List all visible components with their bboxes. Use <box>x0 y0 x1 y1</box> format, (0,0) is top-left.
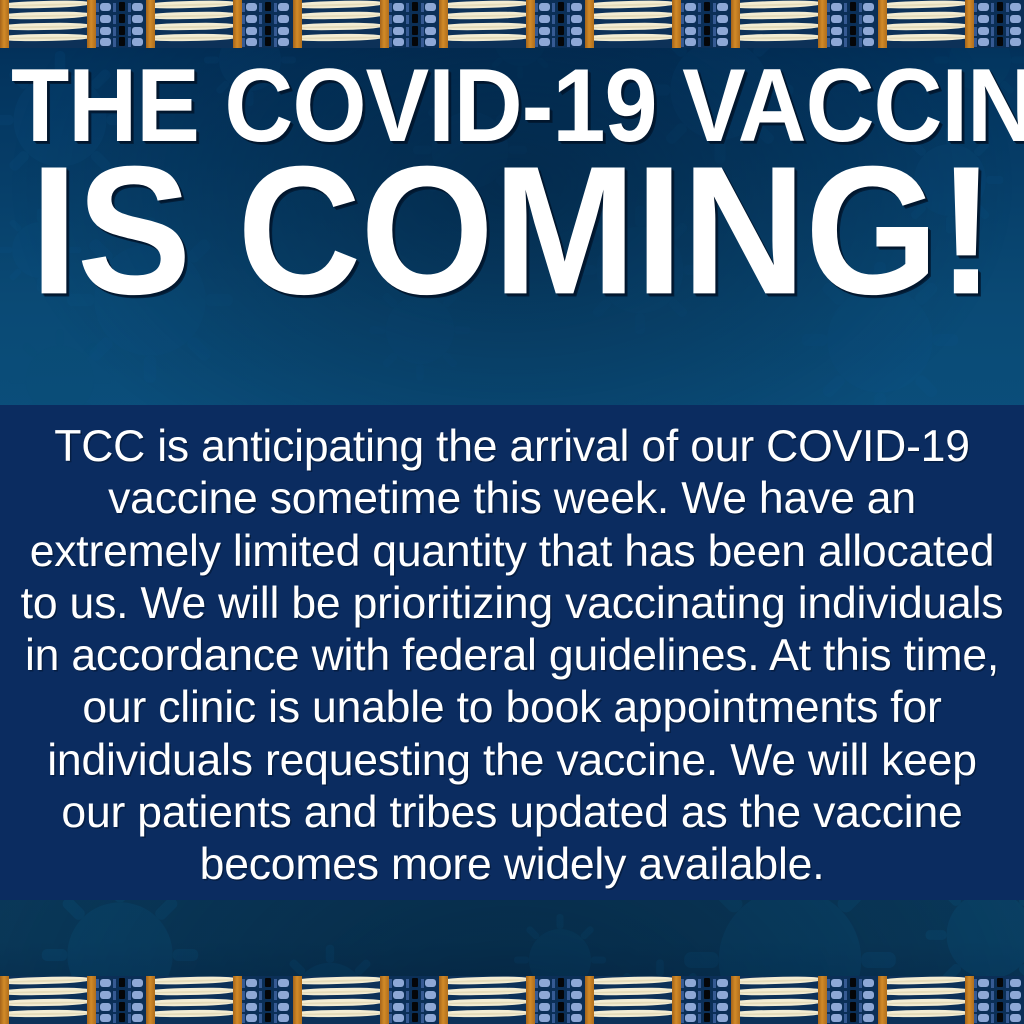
bead-column <box>1006 976 1024 1024</box>
bottom-beadwork-border <box>0 976 1024 1024</box>
gold-post <box>878 976 887 1024</box>
bead-column <box>713 0 731 48</box>
weave-unit <box>146 976 292 1024</box>
gold-post <box>233 976 242 1024</box>
weave-unit <box>439 976 585 1024</box>
bead-column <box>1006 0 1024 48</box>
bead-column <box>128 976 146 1024</box>
headline-block: THE COVID-19 VACCINE IS COMING! <box>0 62 1024 304</box>
bead-column <box>421 976 439 1024</box>
dash-column <box>118 0 126 48</box>
bead-column <box>567 0 585 48</box>
body-text-panel: TCC is anticipating the arrival of our C… <box>0 405 1024 900</box>
gold-post <box>293 0 302 48</box>
dash-column <box>703 976 711 1024</box>
dash-column <box>849 0 857 48</box>
bead-column <box>974 0 994 48</box>
gold-post <box>818 976 827 1024</box>
gold-post <box>585 0 594 48</box>
gold-post <box>672 0 681 48</box>
bead-column <box>681 976 701 1024</box>
bead-column <box>859 976 877 1024</box>
ivory-bands <box>878 976 966 1024</box>
bead-column <box>827 976 847 1024</box>
gold-post <box>87 0 96 48</box>
announcement-body-text: TCC is anticipating the arrival of our C… <box>14 421 1010 892</box>
ivory-bands <box>731 0 819 48</box>
weave-unit <box>731 976 877 1024</box>
bead-column <box>713 976 731 1024</box>
ivory-bands <box>0 0 88 48</box>
dash-column <box>411 976 419 1024</box>
weave-unit <box>585 976 731 1024</box>
bead-column <box>535 976 555 1024</box>
dash-column <box>703 0 711 48</box>
dash-column <box>557 976 565 1024</box>
weave-pattern-bottom <box>0 976 1024 1024</box>
covid-vaccine-announcement-poster: THE COVID-19 VACCINE IS COMING! TCC is a… <box>0 0 1024 1024</box>
weave-unit <box>878 0 1024 48</box>
dash-column <box>557 0 565 48</box>
ivory-bands <box>146 976 234 1024</box>
weave-unit <box>439 0 585 48</box>
bead-column <box>535 0 555 48</box>
gold-post <box>526 0 535 48</box>
dash-column <box>996 976 1004 1024</box>
dash-column <box>411 0 419 48</box>
bead-column <box>96 0 116 48</box>
gold-post <box>87 976 96 1024</box>
gold-post <box>878 0 887 48</box>
weave-pattern-top <box>0 0 1024 48</box>
ivory-bands <box>731 976 819 1024</box>
bead-column <box>274 976 292 1024</box>
gold-post <box>439 976 448 1024</box>
ivory-bands <box>293 0 381 48</box>
weave-unit <box>293 0 439 48</box>
dash-column <box>264 976 272 1024</box>
gold-post <box>0 0 9 48</box>
bead-column <box>242 976 262 1024</box>
weave-unit <box>293 976 439 1024</box>
ivory-bands <box>585 976 673 1024</box>
bead-column <box>242 0 262 48</box>
top-beadwork-border <box>0 0 1024 48</box>
weave-unit <box>585 0 731 48</box>
ivory-bands <box>293 976 381 1024</box>
gold-post <box>380 976 389 1024</box>
gold-post <box>585 976 594 1024</box>
gold-post <box>731 0 740 48</box>
ivory-bands <box>878 0 966 48</box>
gold-post <box>818 0 827 48</box>
ivory-bands <box>585 0 673 48</box>
bead-column <box>128 0 146 48</box>
ivory-bands <box>439 0 527 48</box>
bead-column <box>421 0 439 48</box>
bead-column <box>859 0 877 48</box>
bead-column <box>96 976 116 1024</box>
weave-unit <box>146 0 292 48</box>
gold-post <box>439 0 448 48</box>
bead-column <box>389 0 409 48</box>
weave-unit <box>731 0 877 48</box>
bead-column <box>974 976 994 1024</box>
weave-unit <box>0 0 146 48</box>
dash-column <box>118 976 126 1024</box>
gold-post <box>146 976 155 1024</box>
gold-post <box>526 976 535 1024</box>
weave-unit <box>878 976 1024 1024</box>
gold-post <box>0 976 9 1024</box>
gold-post <box>965 976 974 1024</box>
ivory-bands <box>146 0 234 48</box>
dash-column <box>996 0 1004 48</box>
bead-column <box>681 0 701 48</box>
ivory-bands <box>0 976 88 1024</box>
headline-line-2: IS COMING! <box>20 153 1004 310</box>
gold-post <box>672 976 681 1024</box>
bead-column <box>827 0 847 48</box>
gold-post <box>731 976 740 1024</box>
bead-column <box>389 976 409 1024</box>
gold-post <box>146 0 155 48</box>
ivory-bands <box>439 976 527 1024</box>
gold-post <box>293 976 302 1024</box>
gold-post <box>380 0 389 48</box>
bead-column <box>567 976 585 1024</box>
gold-post <box>233 0 242 48</box>
weave-unit <box>0 976 146 1024</box>
bead-column <box>274 0 292 48</box>
dash-column <box>264 0 272 48</box>
dash-column <box>849 976 857 1024</box>
gold-post <box>965 0 974 48</box>
